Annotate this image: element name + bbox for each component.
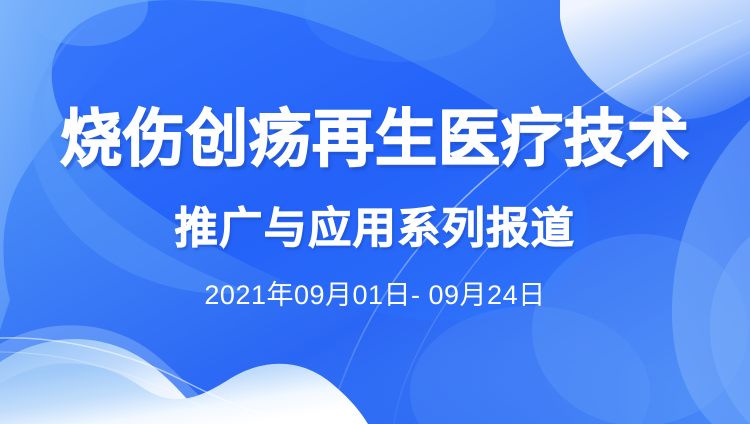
banner-main-title: 烧伤创疡再生医疗技术 (0, 98, 750, 180)
banner-subtitle: 推广与应用系列报道 (0, 200, 750, 258)
banner-date-range: 2021年09月01日- 09月24日 (0, 278, 750, 312)
promo-banner: 烧伤创疡再生医疗技术 推广与应用系列报道 2021年09月01日- 09月24日 (0, 0, 750, 424)
banner-content: 烧伤创疡再生医疗技术 推广与应用系列报道 2021年09月01日- 09月24日 (0, 0, 750, 424)
